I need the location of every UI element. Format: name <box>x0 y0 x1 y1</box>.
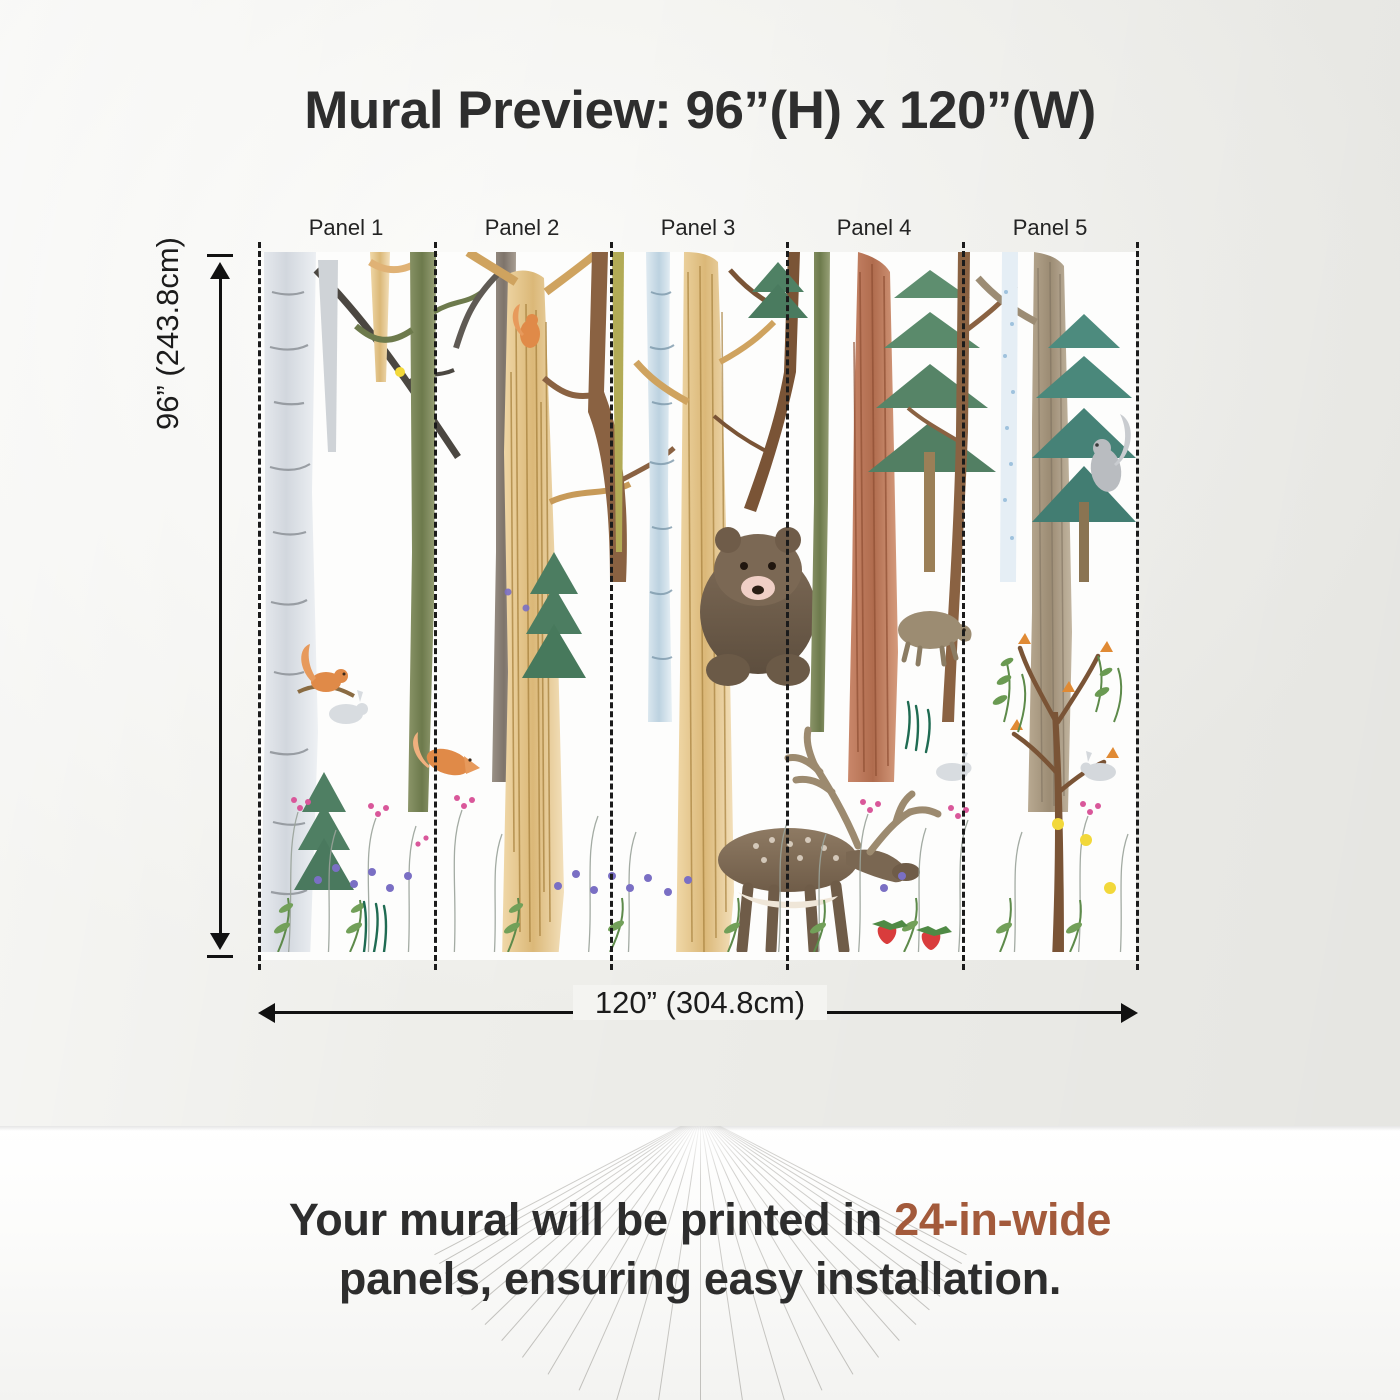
panel-label-1: Panel 1 <box>258 215 434 241</box>
height-arrow-up <box>210 262 230 279</box>
caption-line1-before: Your mural will be printed in <box>289 1194 894 1245</box>
width-dimension-label-wrap: 120” (304.8cm) <box>0 985 1400 1021</box>
caption-text: Your mural will be printed in 24-in-wide… <box>0 1190 1400 1309</box>
panel-divider-left-edge <box>258 242 261 970</box>
height-cap-bottom <box>207 955 233 958</box>
mural-preview-image <box>258 252 1136 960</box>
panel-divider-1 <box>434 242 437 970</box>
panel-label-3: Panel 3 <box>610 215 786 241</box>
panel-label-5: Panel 5 <box>962 215 1138 241</box>
mural-canvas <box>258 252 1136 960</box>
caption-line-1: Your mural will be printed in 24-in-wide <box>0 1190 1400 1249</box>
panel-divider-right-edge <box>1136 242 1139 970</box>
panel-divider-4 <box>962 242 965 970</box>
panel-divider-2 <box>610 242 613 970</box>
panel-label-2: Panel 2 <box>434 215 610 241</box>
page-title: Mural Preview: 96”(H) x 120”(W) <box>0 80 1400 141</box>
caption-accent: 24-in-wide <box>894 1194 1111 1245</box>
height-dimension-line <box>203 250 237 962</box>
height-arrow-down <box>210 933 230 950</box>
forest-mural-artwork <box>258 252 1136 960</box>
panel-label-4: Panel 4 <box>786 215 962 241</box>
width-dimension-label: 120” (304.8cm) <box>573 985 827 1020</box>
height-bar <box>219 268 222 944</box>
panel-divider-3 <box>786 242 789 970</box>
height-dimension-label: 96” (243.8cm) <box>150 237 186 430</box>
height-cap-top <box>207 254 233 257</box>
caption-line-2: panels, ensuring easy installation. <box>0 1249 1400 1308</box>
